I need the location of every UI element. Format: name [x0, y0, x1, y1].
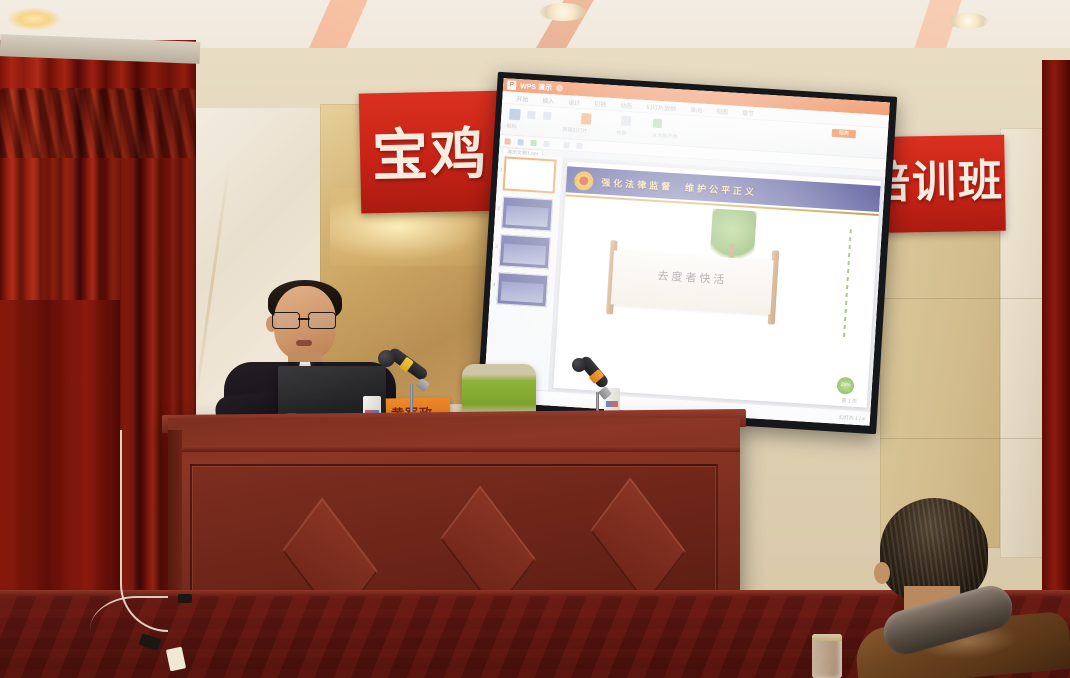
conference-hall-photo: 宝鸡 培训班 P WPS 演示 开始 插入 设计 切换 动画 幻灯片放映 审阅 … — [0, 0, 1070, 678]
ribbon-label-paste: 粘贴 — [506, 122, 516, 130]
slide-thumb-content — [505, 206, 548, 228]
downlight-icon — [8, 8, 60, 30]
slide-badge: 25% — [836, 377, 854, 395]
downlight-icon — [948, 13, 988, 29]
procuratorate-emblem-icon — [574, 170, 594, 190]
mic-head-icon — [572, 358, 586, 372]
status-slide-counter: 幻灯片 1 / 4 — [839, 413, 866, 422]
slide-thumb-content — [501, 281, 544, 303]
slide-thumb-content — [503, 244, 546, 266]
menu-item-start[interactable]: 开始 — [516, 93, 529, 103]
menu-item-design[interactable]: 设计 — [568, 97, 581, 107]
glass-jar — [812, 634, 842, 678]
play-icon[interactable] — [504, 138, 510, 144]
slide-number-1: 1 — [500, 167, 503, 173]
slide-number-2: 2 — [497, 206, 500, 212]
wps-tab-add-icon[interactable] — [556, 84, 563, 91]
menu-item-view[interactable]: 视图 — [716, 106, 729, 116]
slide-note: 第 1 页 — [841, 397, 857, 405]
banner-left-text: 宝鸡 — [371, 109, 489, 192]
table-icon[interactable] — [530, 140, 536, 146]
menu-item-section[interactable]: 章节 — [742, 108, 755, 118]
wps-app-name: WPS 演示 — [520, 81, 552, 93]
downlight-icon — [540, 3, 586, 21]
mic-head-icon — [378, 350, 395, 367]
undo-icon[interactable] — [563, 142, 569, 148]
shape-icon[interactable] — [517, 139, 523, 145]
slide-thumbnail-3[interactable]: 3 — [499, 234, 551, 269]
copy-icon[interactable] — [543, 112, 551, 120]
ribbon-label-new-slide: 新建幻灯片 — [562, 126, 587, 135]
menu-item-slideshow[interactable]: 幻灯片放映 — [646, 102, 677, 113]
wps-workspace: 1 2 3 4 — [484, 153, 885, 412]
redo-icon[interactable] — [576, 143, 582, 149]
mic-tail — [416, 378, 430, 392]
slide-thumbnail-2[interactable]: 2 — [501, 196, 553, 231]
stage-curtain-secondary — [0, 300, 120, 640]
ribbon-label-from-current: 从当前开始 — [652, 132, 677, 141]
podium-lip — [170, 446, 740, 452]
section-icon[interactable] — [653, 119, 663, 129]
dk-store-button[interactable]: 稻壳 — [832, 129, 856, 138]
chart-icon[interactable] — [543, 141, 549, 147]
slide-number-4: 4 — [492, 282, 495, 288]
wps-logo-icon: P — [507, 80, 517, 90]
cut-icon[interactable] — [527, 111, 535, 119]
speaker-mouth — [296, 340, 312, 346]
projection-screen: P WPS 演示 开始 插入 设计 切换 动画 幻灯片放映 审阅 视图 章节 — [477, 72, 897, 434]
curtain-gather — [0, 88, 196, 158]
menu-item-review[interactable]: 审阅 — [690, 104, 703, 114]
slide-number-3: 3 — [495, 244, 498, 250]
menu-item-animation[interactable]: 动画 — [620, 100, 633, 110]
eyeglasses-icon — [272, 312, 336, 329]
banner-left: 宝鸡 — [359, 90, 511, 213]
projected-desktop: P WPS 演示 开始 插入 设计 切换 动画 幻灯片放映 审阅 视图 章节 — [483, 78, 890, 426]
microphone-left — [372, 344, 442, 414]
audience-member — [856, 498, 1070, 678]
menu-item-insert[interactable]: 插入 — [542, 95, 555, 105]
ribbon-label-layout: 布局 — [616, 129, 626, 137]
cable-clip — [178, 594, 192, 603]
slide-header-text: 强化法律监督 维护公平正义 — [601, 175, 758, 198]
marble-column — [1000, 128, 1048, 558]
new-slide-icon[interactable] — [581, 113, 592, 125]
slide-thumbnail-1[interactable]: 1 — [503, 156, 557, 193]
menu-item-transition[interactable]: 切换 — [594, 98, 607, 108]
audience-ear — [874, 562, 890, 584]
mic-tail — [598, 386, 612, 400]
slide-thumbnail-4[interactable]: 4 — [496, 272, 548, 307]
podium-diamond-3 — [590, 477, 686, 604]
paste-icon[interactable] — [509, 109, 521, 121]
layout-icon[interactable] — [621, 116, 632, 127]
podium-front-panel — [190, 464, 718, 610]
vine-graphic-icon — [843, 229, 852, 337]
